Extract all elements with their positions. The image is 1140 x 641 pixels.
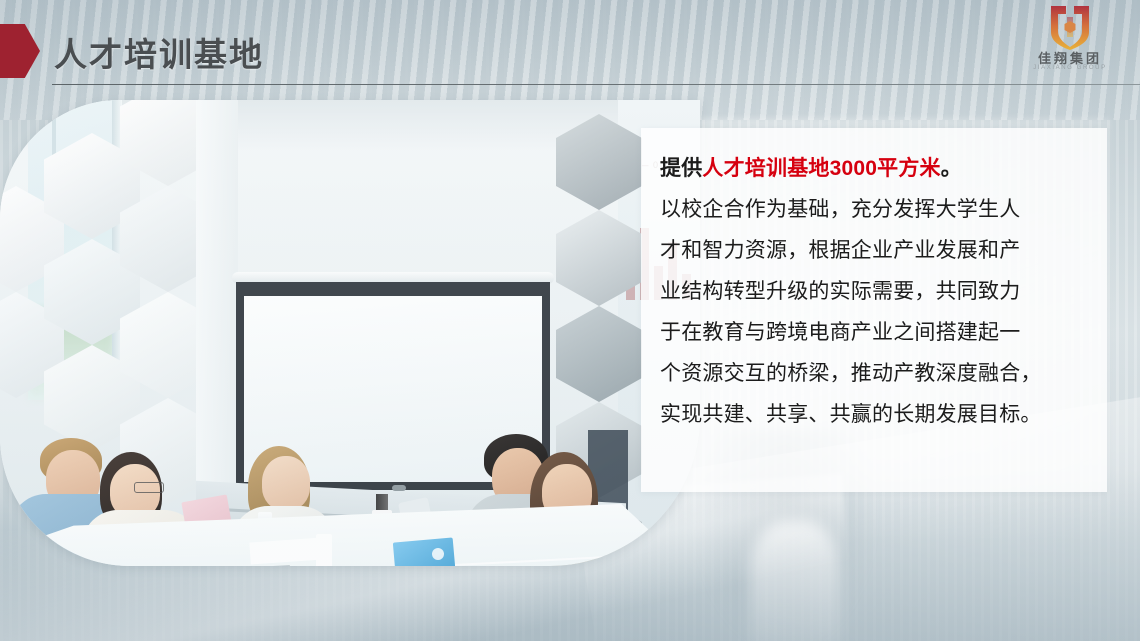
- photo-scene: 04 — 0: [0, 100, 700, 566]
- header-arrow-marker: [0, 24, 40, 78]
- panel-body-line: 实现共建、共享、共赢的长期发展目标。: [660, 394, 1092, 435]
- shield-icon: [1048, 4, 1092, 50]
- slide-header: 人才培训基地 佳翔集团 JIAXIANG GROUP: [0, 0, 1140, 96]
- headline-prefix: 提供: [660, 157, 702, 180]
- headline-highlight: 人才培训基地3000平方米: [702, 157, 940, 180]
- panel-body-line: 个资源交互的桥梁，推动产教深度融合，: [660, 353, 1092, 394]
- slide-root: 人才培训基地 佳翔集团 JIAXIANG GROUP: [0, 0, 1140, 641]
- headline-suffix: 。: [941, 157, 962, 180]
- description-panel: 提供人才培训基地3000平方米。 以校企合作为基础，充分发挥大学生人 才和智力资…: [641, 128, 1107, 492]
- panel-body-line: 于在教育与跨境电商产业之间搭建起一: [660, 312, 1092, 353]
- panel-headline: 提供人才培训基地3000平方米。: [660, 148, 1092, 189]
- logo-name-en: JIAXIANG GROUP: [1022, 65, 1118, 71]
- page-title: 人才培训基地: [54, 28, 264, 76]
- panel-body-line: 才和智力资源，根据企业产业发展和产: [660, 230, 1092, 271]
- description-panel-content: 提供人才培训基地3000平方米。 以校企合作为基础，充分发挥大学生人 才和智力资…: [660, 148, 1092, 435]
- company-logo: 佳翔集团 JIAXIANG GROUP: [1022, 4, 1118, 80]
- panel-body-line: 以校企合作为基础，充分发挥大学生人: [660, 189, 1092, 230]
- meeting-room-photo: 04 — 0: [0, 100, 700, 566]
- header-divider: [52, 84, 1140, 85]
- panel-body-line: 业结构转型升级的实际需要，共同致力: [660, 271, 1092, 312]
- photo-color-tone: [0, 100, 700, 566]
